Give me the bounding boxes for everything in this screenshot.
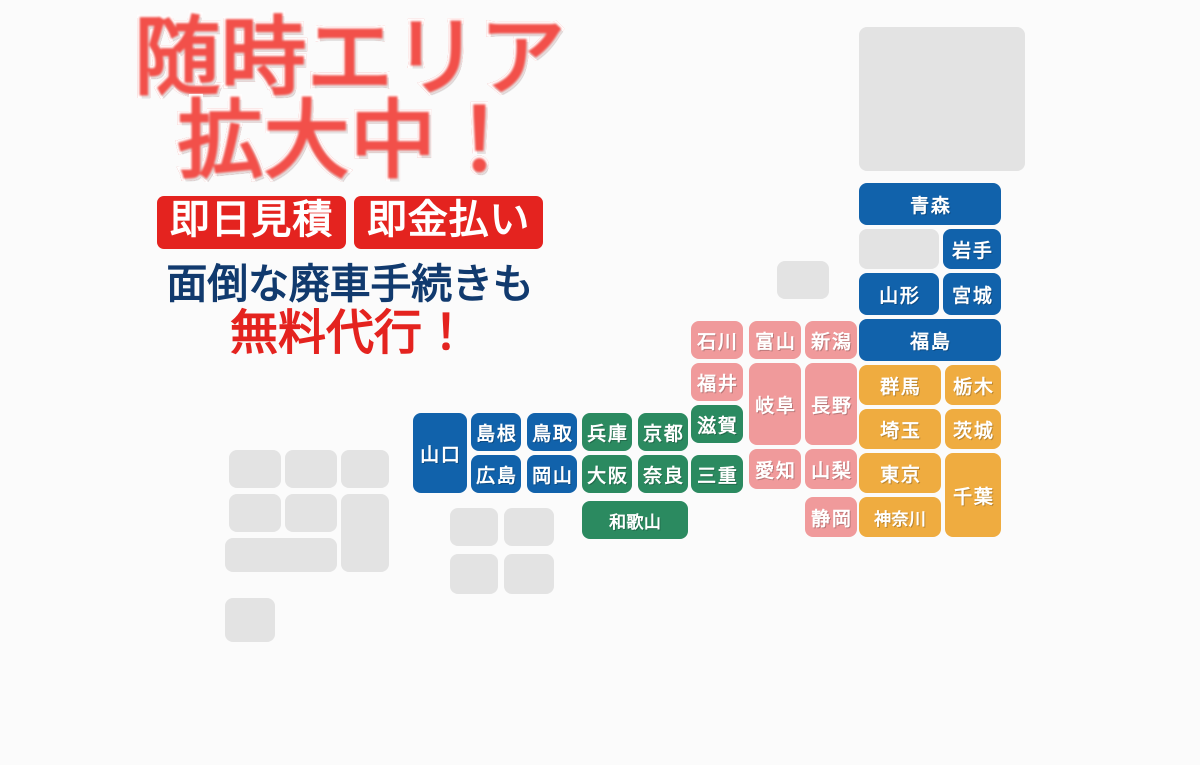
prefecture-tile-愛知[interactable]: 愛知 — [749, 449, 801, 489]
prefecture-tile-inactive — [450, 508, 498, 546]
prefecture-tile-神奈川[interactable]: 神奈川 — [859, 497, 941, 537]
prefecture-tile-inactive — [285, 450, 337, 488]
prefecture-tile-inactive — [504, 554, 554, 594]
prefecture-tile-山梨[interactable]: 山梨 — [805, 449, 857, 489]
prefecture-tile-inactive — [859, 229, 939, 269]
prefecture-tile-岐阜[interactable]: 岐阜 — [749, 363, 801, 445]
prefecture-tile-山口[interactable]: 山口 — [413, 413, 467, 493]
prefecture-tile-inactive — [777, 261, 829, 299]
prefecture-tile-奈良[interactable]: 奈良 — [638, 455, 688, 493]
prefecture-tile-inactive — [225, 598, 275, 642]
prefecture-tile-三重[interactable]: 三重 — [691, 455, 743, 493]
prefecture-tile-兵庫[interactable]: 兵庫 — [582, 413, 632, 451]
prefecture-tile-青森[interactable]: 青森 — [859, 183, 1001, 225]
prefecture-tile-広島[interactable]: 広島 — [471, 455, 521, 493]
prefecture-tile-大阪[interactable]: 大阪 — [582, 455, 632, 493]
prefecture-tile-inactive — [341, 450, 389, 488]
prefecture-tile-福島[interactable]: 福島 — [859, 319, 1001, 361]
prefecture-tile-inactive — [229, 494, 281, 532]
prefecture-tile-京都[interactable]: 京都 — [638, 413, 688, 451]
prefecture-tile-島根[interactable]: 島根 — [471, 413, 521, 451]
prefecture-tile-inactive — [504, 508, 554, 546]
prefecture-tile-inactive — [450, 554, 498, 594]
prefecture-tile-inactive — [341, 494, 389, 572]
prefecture-tile-鳥取[interactable]: 鳥取 — [527, 413, 577, 451]
prefecture-tile-和歌山[interactable]: 和歌山 — [582, 501, 688, 539]
prefecture-tile-埼玉[interactable]: 埼玉 — [859, 409, 941, 449]
prefecture-tile-茨城[interactable]: 茨城 — [945, 409, 1001, 449]
prefecture-tile-栃木[interactable]: 栃木 — [945, 365, 1001, 405]
prefecture-tile-滋賀[interactable]: 滋賀 — [691, 405, 743, 443]
japan-prefecture-map: 青森岩手山形宮城福島群馬栃木埼玉茨城東京千葉神奈川石川富山新潟福井岐阜長野滋賀愛… — [0, 0, 1200, 765]
prefecture-tile-千葉[interactable]: 千葉 — [945, 453, 1001, 537]
prefecture-tile-東京[interactable]: 東京 — [859, 453, 941, 493]
prefecture-tile-山形[interactable]: 山形 — [859, 273, 939, 315]
prefecture-tile-宮城[interactable]: 宮城 — [943, 273, 1001, 315]
prefecture-tile-群馬[interactable]: 群馬 — [859, 365, 941, 405]
prefecture-tile-石川[interactable]: 石川 — [691, 321, 743, 359]
prefecture-tile-inactive — [285, 494, 337, 532]
prefecture-tile-長野[interactable]: 長野 — [805, 363, 857, 445]
prefecture-tile-岡山[interactable]: 岡山 — [527, 455, 577, 493]
prefecture-tile-新潟[interactable]: 新潟 — [805, 321, 857, 359]
prefecture-tile-inactive — [225, 538, 337, 572]
prefecture-tile-静岡[interactable]: 静岡 — [805, 497, 857, 537]
prefecture-tile-inactive — [859, 27, 1025, 171]
prefecture-tile-inactive — [229, 450, 281, 488]
prefecture-tile-富山[interactable]: 富山 — [749, 321, 801, 359]
prefecture-tile-岩手[interactable]: 岩手 — [943, 229, 1001, 269]
prefecture-tile-福井[interactable]: 福井 — [691, 363, 743, 401]
